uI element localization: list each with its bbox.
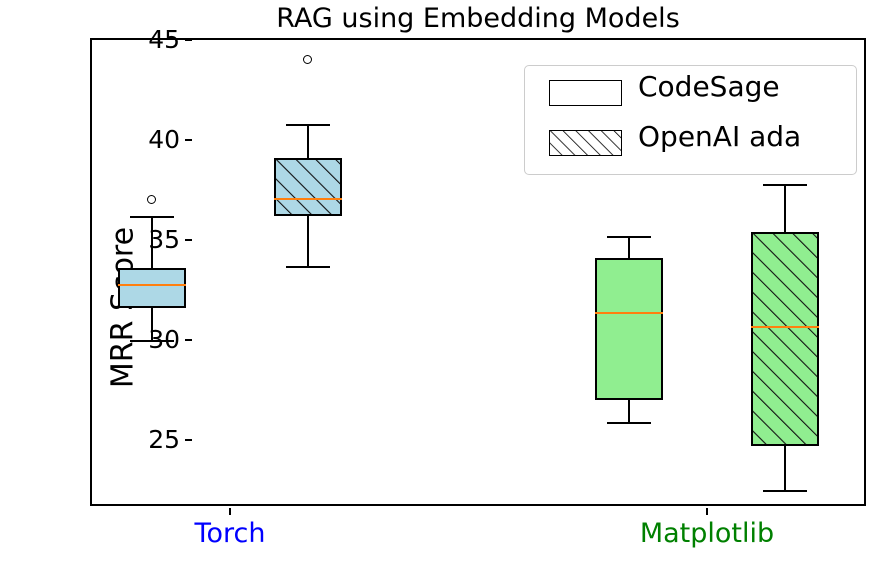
median-line bbox=[118, 284, 186, 286]
legend-swatch-hatched bbox=[549, 130, 622, 156]
x-tick-label-matplotlib: Matplotlib bbox=[577, 518, 837, 549]
x-tick-label-torch: Torch bbox=[100, 518, 360, 549]
cap-lower bbox=[763, 490, 807, 492]
y-tick-40: 40 bbox=[92, 140, 192, 141]
x-tick-mark bbox=[706, 508, 708, 515]
plot-area: MRR Score 2530354045 TorchMatplotlib Cod… bbox=[90, 38, 866, 506]
box-iqr bbox=[118, 268, 186, 308]
cap-upper bbox=[607, 236, 651, 238]
cap-lower bbox=[286, 266, 330, 268]
cap-upper bbox=[286, 124, 330, 126]
legend-label-codesage: CodeSage bbox=[638, 70, 780, 103]
legend: CodeSage OpenAI ada bbox=[524, 65, 857, 175]
outlier-point bbox=[303, 55, 312, 64]
y-tick-label: 45 bbox=[148, 25, 180, 54]
legend-item-openai-ada: OpenAI ada bbox=[525, 122, 858, 164]
y-tick-35: 35 bbox=[92, 240, 192, 241]
x-tick-mark bbox=[229, 508, 231, 515]
hatch-pattern-icon bbox=[751, 232, 819, 446]
whisker-lower bbox=[784, 446, 786, 490]
whisker-upper bbox=[784, 184, 786, 232]
median-line bbox=[274, 198, 342, 200]
outlier-point bbox=[147, 195, 156, 204]
y-tick-25: 25 bbox=[92, 440, 192, 441]
hatch-pattern-icon bbox=[274, 158, 342, 216]
median-line bbox=[751, 326, 819, 328]
legend-label-openai-ada: OpenAI ada bbox=[638, 120, 801, 153]
whisker-upper bbox=[151, 216, 153, 268]
cap-upper bbox=[763, 184, 807, 186]
whisker-lower bbox=[151, 308, 153, 340]
whisker-upper bbox=[628, 236, 630, 258]
y-tick-45: 45 bbox=[92, 40, 192, 41]
whisker-lower bbox=[628, 400, 630, 422]
legend-item-codesage: CodeSage bbox=[525, 72, 858, 114]
y-tick-mark bbox=[185, 39, 192, 41]
figure-canvas: RAG using Embedding Models MRR Score 253… bbox=[0, 0, 876, 561]
median-line bbox=[595, 312, 663, 314]
hatch-pattern-icon bbox=[550, 131, 622, 156]
y-tick-mark bbox=[185, 439, 192, 441]
y-tick-label: 40 bbox=[148, 125, 180, 154]
y-tick-mark bbox=[185, 339, 192, 341]
legend-swatch-plain bbox=[549, 80, 622, 106]
box-iqr bbox=[751, 232, 819, 446]
y-tick-label: 25 bbox=[148, 425, 180, 454]
cap-lower bbox=[130, 340, 174, 342]
cap-upper bbox=[130, 216, 174, 218]
cap-lower bbox=[607, 422, 651, 424]
y-tick-mark bbox=[185, 239, 192, 241]
y-tick-mark bbox=[185, 139, 192, 141]
whisker-lower bbox=[307, 216, 309, 266]
whisker-upper bbox=[307, 124, 309, 158]
chart-title: RAG using Embedding Models bbox=[90, 2, 866, 36]
box-iqr bbox=[595, 258, 663, 400]
box-iqr bbox=[274, 158, 342, 216]
